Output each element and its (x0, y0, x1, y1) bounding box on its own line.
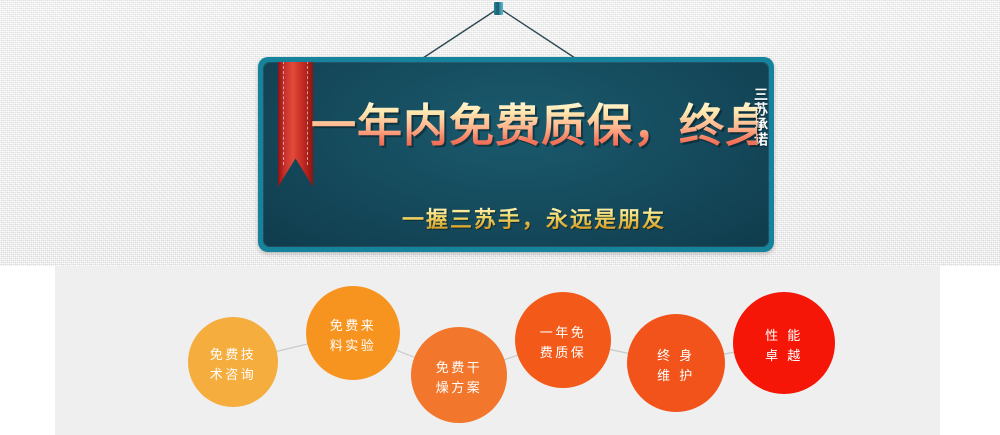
promise-circle-label: 终 身 (657, 348, 695, 364)
banner-title: 一年内免费质保，终身维护 (311, 100, 757, 152)
promise-flow-section: 免费技术咨询免费来料实验免费干燥方案一年免费质保终 身维 护性 能卓 越 (0, 266, 1000, 435)
promise-banner: 三苏承诺 一年内免费质保，终身维护 一握三苏手，永远是朋友 (258, 57, 774, 252)
promise-circle[interactable]: 免费干燥方案 (411, 327, 507, 423)
banner-subtitle: 一握三苏手，永远是朋友 (311, 207, 757, 235)
promise-circle-label: 卓 越 (765, 349, 803, 364)
circle-group: 免费技术咨询免费来料实验免费干燥方案一年免费质保终 身维 护性 能卓 越 (188, 286, 835, 423)
promise-circle[interactable]: 性 能卓 越 (733, 292, 835, 394)
promise-circle-label: 料实验 (330, 338, 377, 354)
hanging-pin-icon (494, 2, 503, 15)
promise-circle-label: 费质保 (540, 346, 587, 361)
promise-circle-label: 免费技 (210, 348, 257, 363)
promise-circle-label: 维 护 (657, 369, 695, 384)
promise-circle-label: 免费干 (436, 361, 483, 376)
promise-circle[interactable]: 终 身维 护 (627, 314, 725, 412)
promise-circle-label: 术咨询 (210, 368, 257, 383)
promise-circle-label: 免费来 (330, 319, 377, 334)
promise-circle[interactable]: 一年免费质保 (515, 292, 611, 388)
promise-circle-label: 一年免 (540, 326, 587, 341)
promise-circle[interactable]: 免费技术咨询 (188, 317, 278, 407)
promise-circle[interactable]: 免费来料实验 (306, 286, 400, 380)
promise-circles: 免费技术咨询免费来料实验免费干燥方案一年免费质保终 身维 护性 能卓 越 (0, 266, 1000, 435)
promise-circle-label: 性 能 (765, 329, 803, 344)
promise-banner-panel: 三苏承诺 一年内免费质保，终身维护 一握三苏手，永远是朋友 (263, 62, 769, 247)
hero-section: 三苏承诺 一年内免费质保，终身维护 一握三苏手，永远是朋友 (0, 0, 1000, 266)
promise-circle-label: 燥方案 (436, 380, 483, 396)
